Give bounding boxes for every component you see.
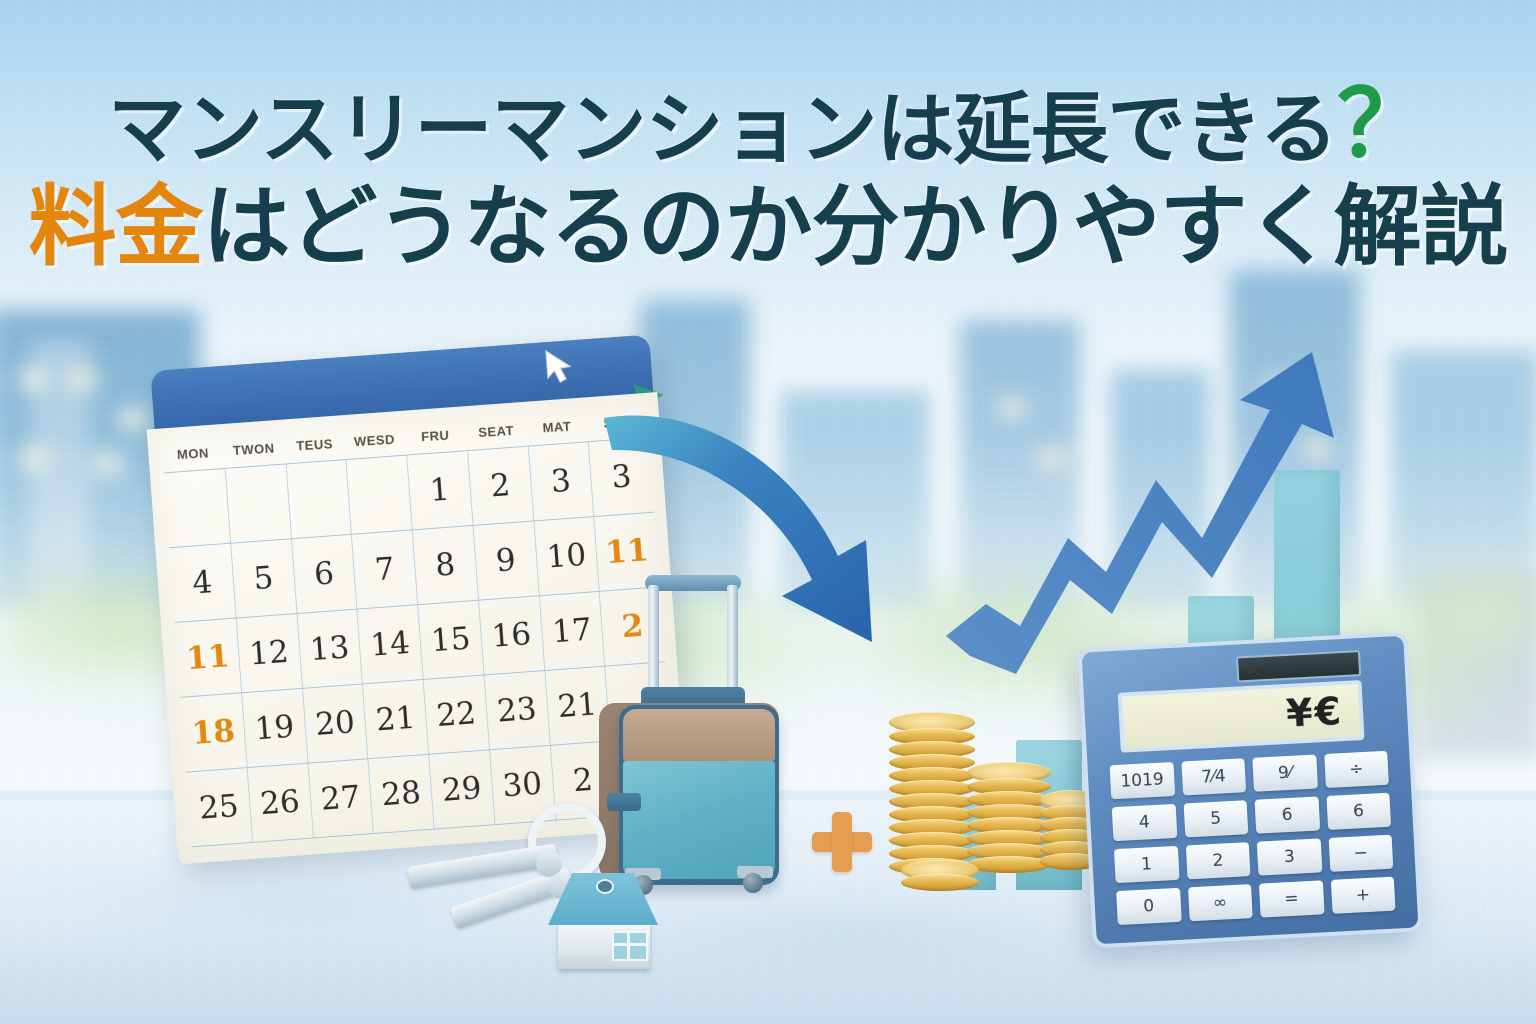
calc-key[interactable]: ÷	[1324, 751, 1389, 788]
calendar-day-cell[interactable]: 15	[417, 601, 483, 679]
calendar-day-cell-highlighted[interactable]: 18	[180, 693, 246, 771]
calendar-day-cell[interactable]: 14	[357, 605, 423, 683]
plus-icon	[812, 812, 872, 872]
calendar-day-cell[interactable]	[164, 469, 230, 547]
calc-key[interactable]: 2	[1185, 842, 1250, 879]
calc-key[interactable]: =	[1259, 880, 1324, 917]
calendar-day-label: WESD	[344, 431, 406, 450]
calculator-display: ¥€	[1118, 680, 1365, 753]
headline-line-2: 料金はどうなるのか分かりやすく解説	[0, 182, 1536, 272]
calendar-day-label: TEUS	[283, 435, 345, 454]
calendar-day-cell[interactable]: 5	[230, 539, 296, 617]
calc-key[interactable]: 0	[1116, 888, 1181, 925]
calendar-day-cell[interactable]: 6	[291, 535, 357, 613]
calendar-day-cell[interactable]: 2	[467, 447, 533, 525]
poster-canvas: マンスリーマンションは延長できる？ 料金はどうなるのか分かりやすく解説	[0, 0, 1536, 1024]
calc-key[interactable]: 5	[1183, 800, 1248, 837]
calendar-day-cell[interactable]: 3	[527, 442, 593, 520]
calendar-day-cell[interactable]: 9	[472, 522, 538, 600]
calendar-day-cell[interactable]: 27	[307, 759, 373, 837]
suitcase-top-panel	[623, 709, 775, 761]
headline-question-mark: ？	[1337, 71, 1428, 178]
headline-block: マンスリーマンションは延長できる？ 料金はどうなるのか分かりやすく解説	[0, 78, 1536, 272]
calc-key[interactable]: ∞	[1188, 884, 1253, 921]
calendar-day-cell[interactable]: 22	[423, 676, 489, 754]
coin-stack-icon	[885, 690, 1105, 905]
calendar-day-cell[interactable]	[346, 456, 412, 534]
calendar-day-cell[interactable]: 7	[351, 530, 417, 608]
calendar-day-cell[interactable]: 25	[186, 768, 252, 846]
suitcase-handle-rod	[648, 585, 659, 697]
calendar-day-label: MON	[162, 444, 224, 463]
coin-single-flat	[901, 860, 979, 886]
calendar-day-cell[interactable]: 21	[362, 680, 428, 758]
calc-key[interactable]: 6	[1326, 793, 1391, 830]
calendar-day-label: TWON	[223, 439, 285, 458]
calendar-day-cell[interactable]: 4	[169, 544, 235, 622]
calendar-day-label: SEAT	[465, 422, 527, 441]
house-fob-window	[612, 931, 648, 961]
house-fob	[548, 873, 658, 968]
calc-key[interactable]: +	[1330, 877, 1395, 914]
cursor-arrow-icon	[544, 348, 577, 386]
calendar-day-cell[interactable]: 16	[478, 596, 544, 674]
calculator[interactable]: ¥€ 1019 7⁄4 9⁄ ÷ 4 5 6 6 1 2 3 − 0 ∞ = +	[1077, 632, 1422, 949]
calculator-display-value: ¥€	[1285, 689, 1344, 736]
calendar-day-cell[interactable]	[224, 465, 290, 543]
headline-line1-part2: 延長できる	[953, 85, 1336, 175]
calendar-day-cell[interactable]: 12	[235, 614, 301, 692]
calendar-day-cell[interactable]: 8	[412, 526, 478, 604]
coin-stack-medium	[967, 762, 1051, 874]
calc-key[interactable]: 3	[1257, 838, 1322, 875]
house-fob-hole	[596, 879, 614, 894]
calendar-day-cell[interactable]: 19	[241, 689, 307, 767]
calc-key[interactable]: 1	[1114, 846, 1179, 883]
calendar-day-label: FRU	[404, 426, 466, 445]
calendar-day-cell[interactable]: 1	[406, 451, 472, 529]
calendar-day-cell[interactable]: 26	[246, 764, 312, 842]
suitcase-handle-rod	[727, 585, 738, 697]
calc-key[interactable]: 7⁄4	[1181, 758, 1246, 795]
headline-line1-part1: マンスリーマンションは	[108, 85, 953, 175]
coin-stack-tall	[889, 712, 975, 872]
calc-key[interactable]: −	[1328, 835, 1393, 872]
calendar-day-cell-highlighted[interactable]: 11	[175, 619, 241, 697]
headline-line2-highlight: 料金	[28, 175, 202, 278]
calc-key[interactable]: 6	[1255, 796, 1320, 833]
calc-key[interactable]: 4	[1112, 804, 1177, 841]
headline-line-1: マンスリーマンションは延長できる？	[0, 78, 1536, 172]
suitcase-wheel	[743, 873, 763, 893]
calendar-day-cell[interactable]: 13	[296, 610, 362, 688]
calendar-day-cell[interactable]: 20	[302, 684, 368, 762]
calc-key[interactable]: 1019	[1110, 762, 1175, 799]
headline-line2-rest: はどうなるのか分かりやすく解説	[203, 175, 1508, 278]
calculator-keypad: 1019 7⁄4 9⁄ ÷ 4 5 6 6 1 2 3 − 0 ∞ = +	[1110, 751, 1396, 925]
calc-key[interactable]: 9⁄	[1252, 755, 1317, 792]
calendar-day-label: MAT	[526, 417, 588, 436]
house-keychain-icon	[400, 795, 670, 975]
calendar-day-cell[interactable]	[285, 460, 351, 538]
calendar-day-cell[interactable]: 23	[483, 671, 549, 749]
